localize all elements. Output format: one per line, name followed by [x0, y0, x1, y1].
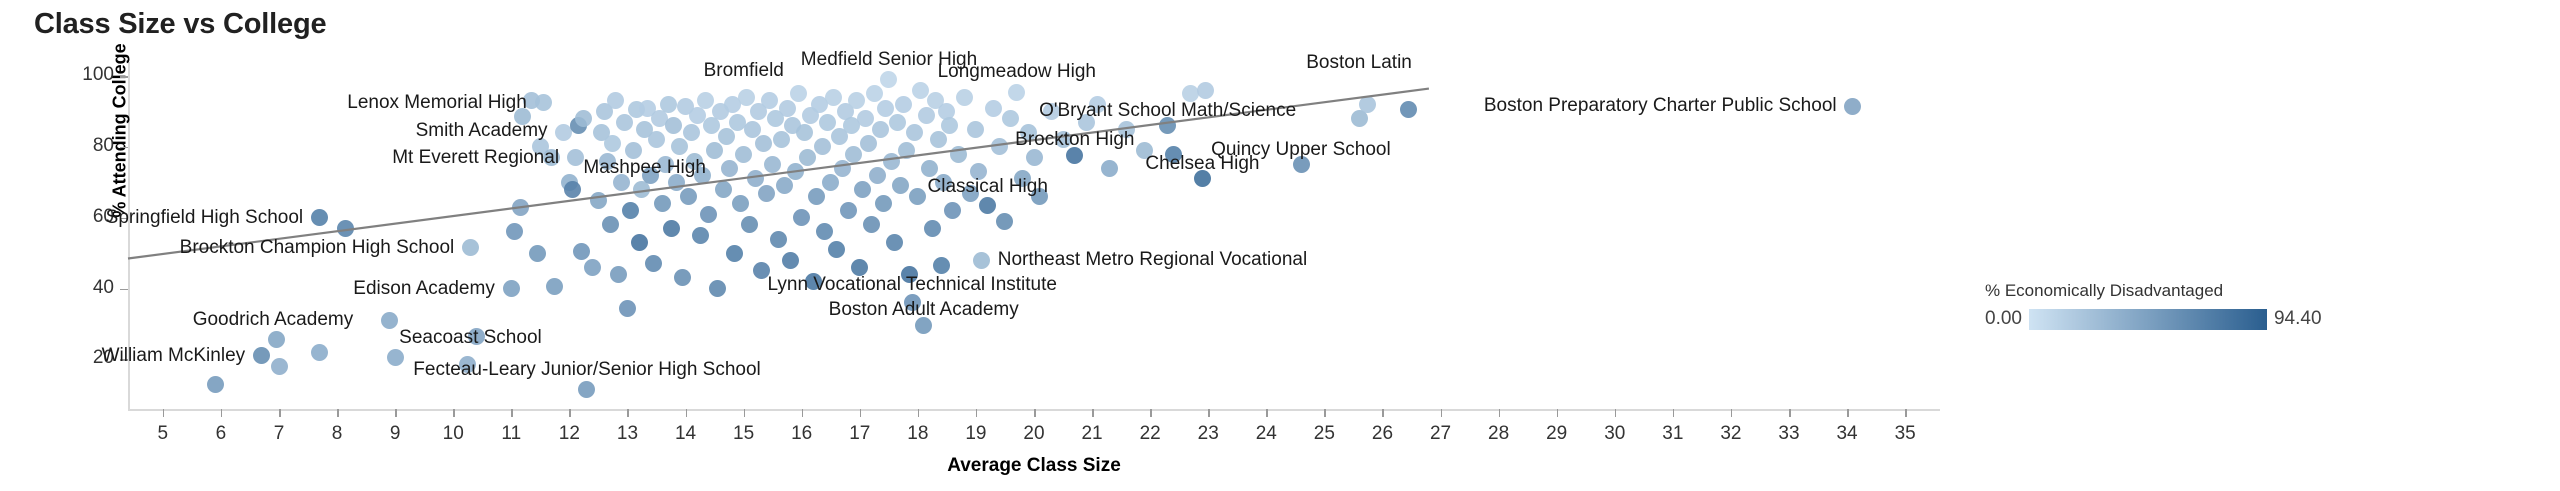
point-label: Bromfield [704, 61, 784, 80]
x-tick-mark [860, 409, 862, 417]
x-tick-mark [1092, 409, 1094, 417]
point-label: Brockton High [1015, 130, 1134, 149]
x-tick-mark [453, 409, 455, 417]
x-tick-mark [1557, 409, 1559, 417]
x-tick-label: 18 [907, 423, 928, 445]
x-tick-mark [279, 409, 281, 417]
point-label: Brockton Champion High School [180, 238, 455, 257]
x-tick-mark [1673, 409, 1675, 417]
x-tick-mark [1847, 409, 1849, 417]
x-tick-label: 23 [1198, 423, 1219, 445]
x-tick-label: 9 [390, 423, 401, 445]
x-tick-label: 10 [443, 423, 464, 445]
x-tick-label: 11 [501, 423, 521, 445]
x-tick-mark [221, 409, 223, 417]
x-tick-mark [1150, 409, 1152, 417]
x-tick-label: 13 [617, 423, 638, 445]
x-tick-label: 21 [1081, 423, 1102, 445]
point-label: Lynn Vocational Technical Institute [768, 275, 1057, 294]
x-tick-mark [1034, 409, 1036, 417]
x-tick-label: 25 [1314, 423, 1335, 445]
point-label: Boston Latin [1306, 53, 1412, 72]
point-label: Chelsea High [1145, 154, 1259, 173]
x-tick-mark [744, 409, 746, 417]
x-tick-label: 22 [1140, 423, 1161, 445]
point-label: O'Bryant School Math/Science [1039, 101, 1296, 120]
x-tick-mark [1441, 409, 1443, 417]
legend-gradient-bar [2029, 309, 2267, 330]
x-tick-mark [1382, 409, 1384, 417]
x-tick-label: 28 [1488, 423, 1509, 445]
x-tick-label: 5 [158, 423, 169, 445]
x-tick-label: 33 [1778, 423, 1799, 445]
point-label: Boston Adult Academy [829, 300, 1019, 319]
x-tick-label: 35 [1895, 423, 1916, 445]
x-tick-label: 17 [849, 423, 870, 445]
x-tick-mark [569, 409, 571, 417]
legend-scale: 0.00 94.40 [1985, 308, 2365, 330]
x-tick-label: 16 [791, 423, 812, 445]
x-tick-label: 8 [332, 423, 343, 445]
y-tick-label: 100 [82, 64, 114, 86]
x-tick-mark [918, 409, 920, 417]
x-tick-mark [802, 409, 804, 417]
x-tick-mark [1615, 409, 1617, 417]
legend-max-value: 94.40 [2274, 308, 2322, 330]
x-tick-label: 26 [1372, 423, 1393, 445]
point-label: Smith Academy [416, 121, 548, 140]
y-tick-label: 80 [93, 135, 114, 157]
x-tick-label: 32 [1720, 423, 1741, 445]
y-tick-mark [120, 289, 128, 291]
x-tick-label: 24 [1256, 423, 1277, 445]
colorbar-legend: % Economically Disadvantaged 0.00 94.40 [1985, 281, 2365, 330]
x-tick-mark [1789, 409, 1791, 417]
y-tick-mark [120, 147, 128, 149]
x-tick-mark [337, 409, 339, 417]
page-title: Class Size vs College [34, 8, 326, 41]
x-tick-label: 27 [1430, 423, 1451, 445]
x-tick-label: 34 [1836, 423, 1857, 445]
scatter-chart: Class Size vs College % Attending Colleg… [0, 0, 2560, 491]
legend-min-value: 0.00 [1985, 308, 2022, 330]
x-tick-label: 20 [1023, 423, 1044, 445]
point-label: Classical High [928, 177, 1048, 196]
point-label: Longmeadow High [938, 62, 1096, 81]
x-tick-label: 31 [1662, 423, 1683, 445]
x-axis-title: Average Class Size [128, 455, 1940, 477]
point-label: Springfield High School [106, 208, 304, 227]
x-tick-label: 29 [1546, 423, 1567, 445]
point-label: Fecteau-Leary Junior/Senior High School [413, 360, 760, 379]
x-tick-mark [1324, 409, 1326, 417]
point-label: Lenox Memorial High [347, 93, 527, 112]
x-tick-label: 14 [675, 423, 696, 445]
point-label: William McKinley [102, 346, 246, 365]
y-tick-mark [120, 76, 128, 78]
x-tick-label: 30 [1604, 423, 1625, 445]
x-tick-mark [1266, 409, 1268, 417]
x-tick-label: 7 [274, 423, 285, 445]
x-tick-mark [976, 409, 978, 417]
point-label: Goodrich Academy [193, 310, 354, 329]
x-tick-mark [1905, 409, 1907, 417]
x-tick-label: 6 [216, 423, 227, 445]
legend-title: % Economically Disadvantaged [1985, 281, 2365, 301]
point-label: Boston Preparatory Charter Public School [1484, 96, 1837, 115]
x-tick-mark [1208, 409, 1210, 417]
x-tick-label: 12 [559, 423, 580, 445]
x-tick-mark [511, 409, 513, 417]
x-tick-mark [686, 409, 688, 417]
x-tick-label: 19 [965, 423, 986, 445]
point-label: Seacoast School [399, 328, 542, 347]
point-label: Edison Academy [353, 279, 495, 298]
x-tick-mark [395, 409, 397, 417]
x-tick-mark [1499, 409, 1501, 417]
point-label: Northeast Metro Regional Vocational [998, 250, 1307, 269]
point-label: Mt Everett Regional [392, 148, 559, 167]
x-tick-mark [163, 409, 165, 417]
x-tick-label: 15 [733, 423, 754, 445]
y-tick-label: 40 [93, 277, 114, 299]
point-label: Mashpee High [583, 158, 706, 177]
x-tick-mark [627, 409, 629, 417]
x-tick-mark [1731, 409, 1733, 417]
